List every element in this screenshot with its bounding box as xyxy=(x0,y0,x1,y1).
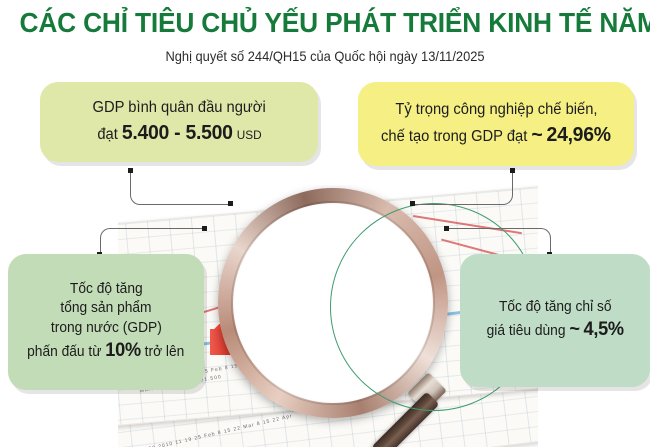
gdp-per-capita-unit: USD xyxy=(236,128,261,142)
cpi-growth-line2: giá tiêu dùng ~ 4,5% xyxy=(486,317,623,343)
cpi-growth-prefix: giá tiêu dùng xyxy=(486,323,565,339)
connector-dot xyxy=(202,226,207,231)
gdp-growth-line1: Tốc độ tăng xyxy=(70,280,143,299)
industry-share-approx: ~ xyxy=(532,123,543,146)
gdp-growth-value: 10% xyxy=(106,340,142,361)
connector-dot xyxy=(128,168,133,173)
gdp-per-capita-prefix: đạt xyxy=(97,126,117,143)
gdp-per-capita-line2: đạt 5.400 - 5.500 USD xyxy=(97,119,261,146)
gdp-growth-suffix: trở lên xyxy=(145,344,185,360)
industry-share-value: 24,96% xyxy=(547,123,611,146)
gdp-per-capita-value: 5.400 - 5.500 xyxy=(121,121,232,144)
cpi-growth-line1: Tốc độ tăng chỉ số xyxy=(499,298,612,317)
connector-gdp-growth xyxy=(100,228,205,257)
connector-industry-share xyxy=(412,170,513,205)
industry-share-line2: chế tạo trong GDP đạt ~ 24,96% xyxy=(381,121,611,148)
callout-industry-share[interactable]: Tỷ trọng công nghiệp chế biến, chế tạo t… xyxy=(358,82,634,166)
page-title: CÁC CHỈ TIÊU CHỦ YẾU PHÁT TRIỂN KINH TẾ … xyxy=(20,6,631,40)
callout-gdp-growth[interactable]: Tốc độ tăng tổng sản phẩm trong nước (GD… xyxy=(8,254,204,390)
gdp-growth-line4: phấn đấu từ 10% trở lên xyxy=(27,338,184,364)
gdp-growth-line3: trong nước (GDP) xyxy=(51,319,162,338)
cpi-growth-approx: ~ xyxy=(569,319,579,340)
connector-dot xyxy=(410,201,415,206)
cpi-growth-value: 4,5% xyxy=(583,319,623,340)
connector-dot xyxy=(510,168,515,173)
gdp-per-capita-line1: GDP bình quân đầu người xyxy=(92,98,265,119)
industry-share-prefix: chế tạo trong GDP đạt xyxy=(381,128,527,145)
connector-cpi-growth xyxy=(446,228,551,257)
callout-cpi-growth[interactable]: Tốc độ tăng chỉ số giá tiêu dùng ~ 4,5% xyxy=(460,254,650,387)
connector-gdp-per-capita xyxy=(130,170,231,205)
infographic-canvas: CÁC CHỈ TIÊU CHỦ YẾU PHÁT TRIỂN KINH TẾ … xyxy=(0,0,650,447)
connector-dot xyxy=(228,201,233,206)
page-subtitle: Nghị quyết số 244/QH15 của Quốc hội ngày… xyxy=(26,48,624,64)
industry-share-line1: Tỷ trọng công nghiệp chế biến, xyxy=(395,100,597,121)
callout-gdp-per-capita[interactable]: GDP bình quân đầu người đạt 5.400 - 5.50… xyxy=(40,82,318,162)
gdp-growth-line2: tổng sản phẩm xyxy=(60,299,151,318)
magnifying-glass xyxy=(218,188,448,418)
connector-dot xyxy=(444,226,449,231)
gdp-growth-prefix: phấn đấu từ xyxy=(27,344,101,360)
